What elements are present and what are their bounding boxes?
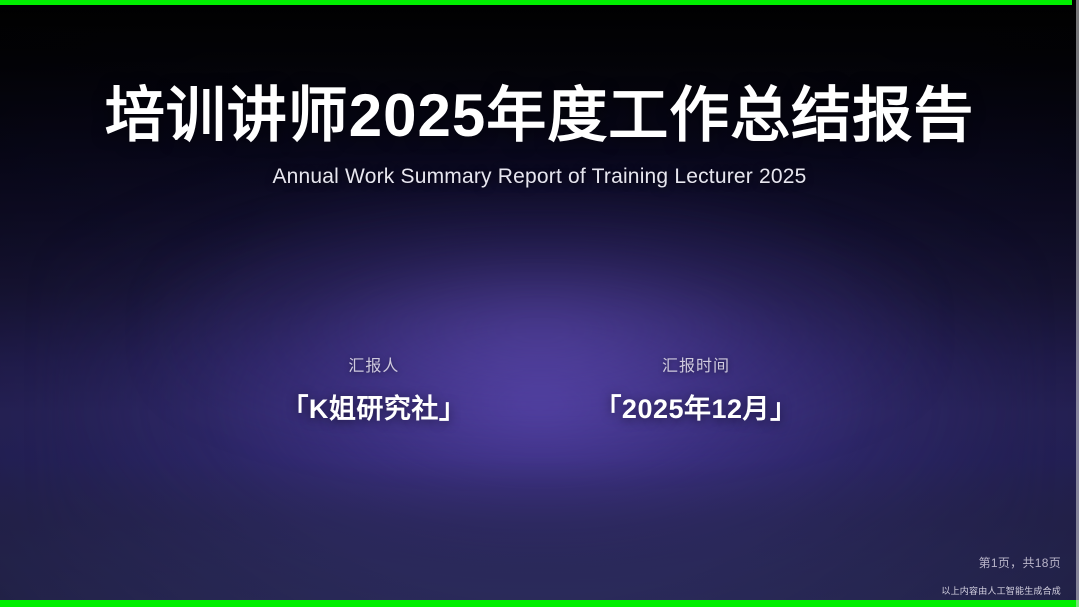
meta-label-date: 汇报时间: [594, 352, 797, 376]
meta-item-date: 汇报时间 「2025年12月」: [594, 352, 797, 426]
presentation-slide: 培训讲师2025年度工作总结报告 Annual Work Summary Rep…: [0, 0, 1079, 607]
report-meta-block: 汇报人 「K姐研究社」 汇报时间 「2025年12月」: [0, 352, 1079, 426]
slide-content: 培训讲师2025年度工作总结报告 Annual Work Summary Rep…: [0, 0, 1079, 607]
ai-generated-disclaimer: 以上内容由人工智能生成合成: [941, 584, 1061, 597]
title-block: 培训讲师2025年度工作总结报告 Annual Work Summary Rep…: [0, 82, 1079, 189]
meta-value-date: 「2025年12月」: [594, 387, 797, 426]
slide-footer: 第1页，共18页 以上内容由人工智能生成合成: [941, 554, 1061, 597]
meta-value-presenter: 「K姐研究社」: [281, 387, 466, 426]
meta-item-presenter: 汇报人 「K姐研究社」: [281, 352, 466, 426]
page-subtitle: Annual Work Summary Report of Training L…: [0, 165, 1079, 189]
meta-label-presenter: 汇报人: [281, 352, 466, 376]
page-title: 培训讲师2025年度工作总结报告: [0, 82, 1079, 149]
page-indicator: 第1页，共18页: [941, 554, 1061, 571]
